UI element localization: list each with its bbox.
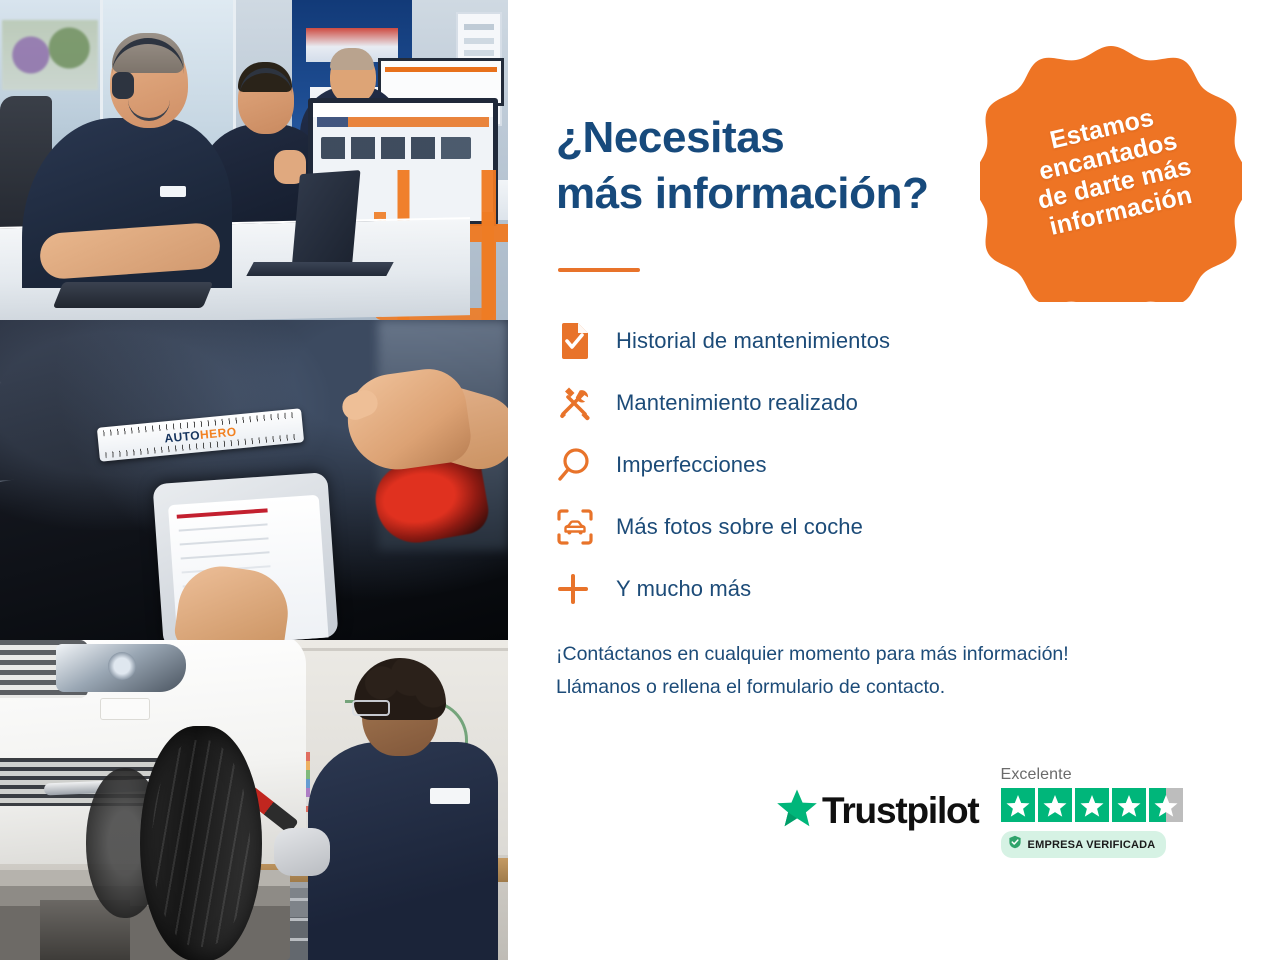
mechanic-uniform-badge <box>430 788 470 804</box>
contact-line-1: ¡Contáctanos en cualquier momento para m… <box>556 638 1216 671</box>
trustpilot-star-filled <box>1038 788 1072 822</box>
trustpilot-star-filled <box>1112 788 1146 822</box>
verified-business-badge: EMPRESA VERIFICADA <box>1001 831 1167 858</box>
inspector-hand <box>342 364 474 476</box>
badge-text: Estamos encantados de darte más informac… <box>1022 98 1200 242</box>
feature-item-historial: Historial de mantenimientos <box>556 310 1026 372</box>
feature-item-fotos: Más fotos sobre el coche <box>556 496 1026 558</box>
agent-one-headset-cup <box>112 72 134 99</box>
contact-line-2: Llámanos o rellena el formulario de cont… <box>556 671 1216 704</box>
car-headlight <box>56 644 186 692</box>
trustpilot-star-filled <box>1001 788 1035 822</box>
mechanic-glove <box>274 828 330 876</box>
laptop-screen <box>292 170 361 270</box>
mechanic-wheel-photo <box>0 640 508 960</box>
photo-column: AUTOHERO <box>0 0 508 960</box>
contact-text: ¡Contáctanos en cualquier momento para m… <box>556 638 1216 704</box>
autohero-watermark-hero: HERO <box>199 425 237 442</box>
support-badge: Estamos encantados de darte más informac… <box>980 40 1242 302</box>
mechanic-body <box>308 742 498 960</box>
license-plate-area <box>100 698 150 720</box>
feature-label: Imperfecciones <box>616 452 767 478</box>
trustpilot-star-icon <box>776 788 818 833</box>
laptop-keyboard <box>246 262 393 276</box>
autohero-watermark-auto: AUTO <box>164 428 201 445</box>
trustpilot-stars <box>1001 788 1183 822</box>
verified-business-label: EMPRESA VERIFICADA <box>1028 839 1156 851</box>
magnifier-icon <box>556 447 602 483</box>
car-photo-frame-icon <box>556 508 602 546</box>
tools-icon <box>556 385 602 421</box>
document-check-icon <box>556 322 602 360</box>
feature-item-imperfecciones: Imperfecciones <box>556 434 1026 496</box>
agent-two-headset <box>240 68 292 111</box>
call-center-agents-photo <box>0 0 508 320</box>
trustpilot-star-half <box>1149 788 1183 822</box>
title-divider <box>558 268 640 272</box>
feature-label: Mantenimiento realizado <box>616 390 858 416</box>
feature-item-mantenimiento: Mantenimiento realizado <box>556 372 1026 434</box>
agent-one-badge <box>160 186 186 197</box>
trustpilot-logo: Trustpilot <box>776 788 979 833</box>
badge-content: Estamos encantados de darte más informac… <box>980 40 1242 302</box>
trustpilot-wordmark: Trustpilot <box>822 792 979 829</box>
mechanic-glasses <box>352 700 390 716</box>
page-title: ¿Necesitas más información? <box>556 110 929 223</box>
trustpilot-score: Excelente <box>1001 766 1183 858</box>
feature-label: Más fotos sobre el coche <box>616 514 863 540</box>
car-inspection-ruler-photo: AUTOHERO <box>0 320 508 640</box>
car-wheel-tire <box>140 726 262 960</box>
plus-icon <box>556 572 602 606</box>
verified-shield-icon <box>1008 835 1022 854</box>
outdoor-greenery <box>2 20 98 90</box>
feature-list: Historial de mantenimientos <box>556 310 1026 620</box>
feature-label: Historial de mantenimientos <box>616 328 890 354</box>
feature-item-mas: Y mucho más <box>556 558 1026 620</box>
trustpilot-rating-label: Excelente <box>1001 766 1183 784</box>
feature-label: Y mucho más <box>616 576 751 602</box>
desk-tablet <box>53 282 214 308</box>
trustpilot-rating[interactable]: Trustpilot Excelente <box>776 766 1183 858</box>
autohero-watermark: AUTOHERO <box>164 425 237 446</box>
content-panel: ¿Necesitas más información? Historial de… <box>508 0 1280 960</box>
promo-card: AUTOHERO <box>0 0 1280 960</box>
trustpilot-star-filled <box>1075 788 1109 822</box>
